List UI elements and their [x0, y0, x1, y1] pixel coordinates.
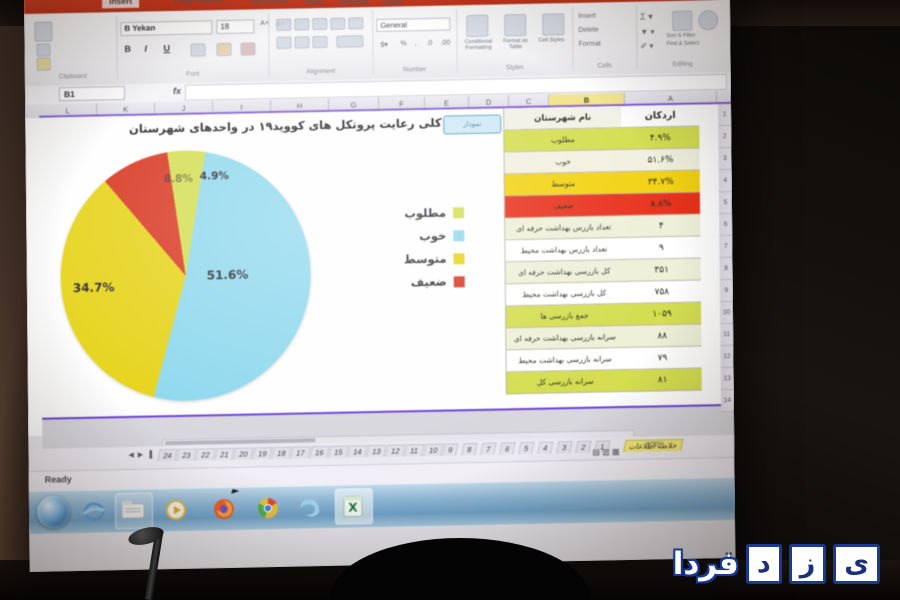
legend-item-motevaset[interactable]: متوسط — [344, 251, 464, 267]
legend-item-matloob[interactable]: مطلوب — [344, 205, 464, 221]
comma-style-icon[interactable]: , — [414, 40, 416, 47]
sheet-tab-14[interactable]: 14 — [347, 445, 368, 457]
watermark-word-farda: فردا — [673, 546, 739, 582]
ribbon-group-styles: Conditional Formatting Format as Table C… — [456, 7, 574, 73]
tab-insert[interactable]: Insert — [102, 0, 139, 8]
ribbon-group-label-cells: Cells — [573, 62, 637, 70]
format-cells-button[interactable]: Format — [578, 40, 600, 47]
chart-legend: مطلوب خوب متوسط ضعیف — [344, 205, 465, 299]
watermark-letter-dal: د — [746, 544, 782, 584]
sheet-tab-13[interactable]: 13 — [366, 445, 387, 457]
merge-and-center-icon[interactable] — [336, 35, 363, 48]
find-and-select-icon[interactable] — [698, 10, 718, 30]
chart-title: وضعیت کلی رعایت پروتکل های کووید۱۹ در وا… — [87, 115, 487, 137]
ribbon-group-label-number: Number — [373, 65, 457, 74]
align-middle-icon[interactable] — [294, 18, 309, 30]
table-cell-value[interactable]: ۳۴.۷% — [622, 170, 700, 193]
pie-chart-object[interactable]: وضعیت کلی رعایت پروتکل های کووید۱۹ در وا… — [43, 109, 498, 418]
table-cell-value[interactable]: ۸۸ — [623, 324, 701, 347]
cut-scissors-icon[interactable] — [36, 43, 50, 56]
align-center-icon[interactable] — [294, 36, 309, 48]
table-cell-label[interactable]: سرانه بازرسی بهداشت محیط — [505, 348, 623, 371]
table-cell-value[interactable]: ۸.۸% — [622, 192, 700, 215]
align-left-icon[interactable] — [276, 37, 291, 49]
sheet-tab-9[interactable]: 9 — [442, 443, 459, 455]
cell-styles-label: Cell Styles — [534, 37, 568, 44]
fill-color-icon[interactable] — [216, 43, 231, 56]
sheet-tab-7[interactable]: 7 — [480, 443, 497, 455]
row-header-10[interactable]: 10 — [720, 302, 733, 324]
table-cell-label[interactable]: خوب — [504, 150, 622, 173]
format-as-table-icon[interactable] — [504, 14, 526, 36]
table-cell-label[interactable]: سرانه بازرسی کل — [506, 370, 624, 393]
legend-item-zaeef[interactable]: ضعیف — [345, 274, 465, 290]
row-header-2[interactable]: 2 — [718, 126, 731, 148]
tab-review[interactable]: Review — [339, 0, 368, 7]
sheet-tab-18[interactable]: 18 — [271, 447, 292, 459]
sheet-tab-10[interactable]: 10 — [423, 444, 444, 456]
font-color-icon[interactable] — [240, 42, 255, 55]
conditional-formatting-label: Conditional Formatting — [458, 38, 498, 51]
ribbon-group-label-font: Font — [117, 69, 269, 79]
sheet-tab-12[interactable]: 12 — [385, 444, 406, 456]
row-header-9[interactable]: 9 — [720, 280, 733, 302]
sheet-tab-15[interactable]: 15 — [328, 446, 349, 458]
tab-data[interactable]: Data — [304, 0, 323, 6]
row-header-14[interactable]: 14 — [721, 390, 734, 412]
find-and-select-label: Find & Select — [666, 40, 699, 47]
firefox-icon[interactable] — [211, 496, 237, 523]
align-top-icon[interactable] — [276, 19, 291, 31]
photo-of-projected-screen: Microsoft Excel Insert Page Layout Formu… — [0, 0, 900, 600]
format-painter-icon[interactable] — [37, 57, 51, 70]
insert-cells-button[interactable]: Insert — [578, 13, 596, 20]
table-cell-value[interactable]: ۸۱ — [624, 368, 702, 391]
sheet-tab-23[interactable]: 23 — [176, 449, 197, 461]
conditional-formatting-icon[interactable] — [466, 15, 488, 37]
row-header-3[interactable]: 3 — [718, 148, 731, 170]
pie-label-zaeef: 8.8% — [164, 173, 193, 186]
legend-swatch-zaeef — [454, 276, 465, 287]
channel-watermark: ی ز د فردا — [673, 544, 880, 584]
table-cell-label[interactable]: تعداد بازرس بهداشت محیط — [504, 238, 622, 261]
sheet-tab-21[interactable]: 21 — [214, 448, 235, 460]
table-cell-value[interactable]: ۹ — [622, 236, 700, 259]
edge-icon[interactable] — [297, 494, 323, 521]
row-header-7[interactable]: 7 — [719, 236, 732, 258]
worksheet-canvas[interactable]: وضعیت کلی رعایت پروتکل های کووید۱۹ در وا… — [25, 104, 734, 436]
table-cell-value[interactable]: ۴ — [622, 214, 700, 237]
table-cell-value[interactable]: ۷۵۸ — [623, 280, 701, 303]
pie-slices[interactable] — [60, 148, 312, 403]
watermark-letter-ye: ی — [833, 544, 880, 584]
pie-label-matloob: 4.9% — [200, 170, 229, 183]
start-button-icon[interactable] — [37, 495, 70, 529]
bold-button[interactable]: B — [124, 44, 131, 54]
table-cell-value[interactable]: ۱۰۵۹ — [623, 302, 701, 325]
ribbon-group-label-styles: Styles — [457, 63, 573, 72]
align-right-icon[interactable] — [312, 36, 327, 48]
table-cell-label[interactable]: کل بازرسی بهداشت حرفه ای — [505, 260, 623, 283]
sort-and-filter-icon[interactable] — [672, 11, 692, 31]
format-as-table-label: Format as Table — [498, 38, 532, 51]
number-format-select[interactable]: General — [376, 17, 450, 31]
underline-button[interactable]: U — [163, 43, 170, 53]
legend-item-khoob[interactable]: خوب — [344, 228, 464, 244]
ribbon-group-label-alignment: Alignment — [269, 67, 373, 76]
table-cell-value[interactable]: ۵۱.۶% — [621, 148, 699, 171]
sheet-tab-5[interactable]: 5 — [518, 442, 535, 454]
table-cell-label[interactable]: جمع بازرسی ها — [505, 304, 623, 327]
ribbon-group-label-editing: Editing — [637, 60, 729, 69]
sheet-tab-19[interactable]: 19 — [252, 447, 273, 459]
svg-text:X: X — [348, 500, 358, 514]
ribbon-group-clipboard: Clipboard — [28, 16, 118, 82]
table-cell-label[interactable]: سرانه بازرسی بهداشت حرفه ای — [505, 326, 623, 349]
row-header-13[interactable]: 13 — [721, 368, 734, 390]
sheet-nav-buttons[interactable]: ◀ ▶ ▐ — [128, 451, 153, 459]
tab-page-layout[interactable]: Page Layout — [174, 0, 225, 5]
sheet-tab-8[interactable]: 8 — [461, 443, 478, 455]
autosum-icon[interactable]: Σ ▾ — [640, 11, 653, 22]
name-box[interactable]: B1 — [59, 86, 125, 101]
pie-wrap: 51.6% 34.7% 8.8% 4.9% — [60, 148, 316, 403]
orientation-icon[interactable] — [330, 18, 345, 30]
view-mode-buttons[interactable]: ▤ ▥ ▦ — [592, 441, 626, 452]
fill-icon[interactable]: ▼ ▾ — [640, 27, 654, 36]
sheet-tab-4[interactable]: 4 — [537, 441, 554, 453]
row-header-12[interactable]: 12 — [720, 346, 733, 368]
row-header-1[interactable]: 1 — [718, 104, 731, 126]
delete-cells-button[interactable]: Delete — [578, 26, 598, 33]
status-text: Ready — [45, 474, 72, 485]
excel-window: Microsoft Excel Insert Page Layout Formu… — [24, 0, 735, 572]
zoom-level-label[interactable]: 100% — [646, 441, 664, 448]
row-header-5[interactable]: 5 — [719, 192, 732, 214]
legend-label-motevaset: متوسط — [404, 252, 447, 267]
table-cell-label[interactable]: تعداد بازرس بهداشت حرفه ای — [504, 216, 622, 239]
row-header-6[interactable]: 6 — [719, 214, 732, 236]
sort-and-filter-label: Sort & Filter — [666, 33, 695, 40]
excel-icon[interactable]: X — [341, 494, 367, 521]
ribbon-group-alignment: Alignment — [268, 11, 374, 77]
legend-label-khoob: خوب — [419, 229, 446, 244]
table-cell-value[interactable]: اردکان — [621, 104, 699, 127]
chart-filter-button[interactable]: نمودار — [443, 114, 501, 134]
table-cell-value[interactable]: ۴.۹% — [621, 126, 699, 149]
folder-icon[interactable] — [121, 500, 147, 527]
sheet-tab-24[interactable]: 24 — [157, 449, 178, 461]
borders-icon[interactable] — [190, 43, 205, 56]
table-cell-label[interactable]: ضعیف — [504, 194, 622, 217]
pie-label-motevaset: 34.7% — [73, 280, 115, 295]
sheet-tab-17[interactable]: 17 — [290, 446, 311, 458]
sheet-tab-6[interactable]: 6 — [499, 442, 516, 454]
row-header-8[interactable]: 8 — [720, 258, 733, 280]
currency-icon[interactable]: $▾ — [380, 41, 387, 49]
sheet-tab-20[interactable]: 20 — [233, 447, 254, 459]
percent-icon[interactable]: % — [400, 40, 406, 47]
align-bottom-icon[interactable] — [312, 18, 327, 30]
ribbon-group-editing: Σ ▾ ▼ ▾ ✐ ▾ Sort & Filter Find & Select … — [636, 4, 729, 70]
row-header-4[interactable]: 4 — [719, 170, 732, 192]
sheet-tab-11[interactable]: 11 — [404, 444, 424, 456]
sheet-tab-16[interactable]: 16 — [309, 446, 330, 458]
sheet-tab-2[interactable]: 2 — [575, 441, 592, 453]
increase-decimal-icon[interactable]: .0 — [426, 40, 432, 47]
insert-function-icon[interactable]: fx — [173, 86, 181, 96]
legend-label-zaeef: ضعیف — [411, 275, 447, 290]
internet-explorer-icon[interactable] — [81, 498, 107, 525]
wrap-text-icon[interactable] — [348, 17, 363, 29]
sheet-tab-3[interactable]: 3 — [556, 441, 573, 453]
table-cell-value[interactable]: ۳۵۱ — [623, 258, 701, 281]
clear-icon[interactable]: ✐ ▾ — [640, 41, 653, 50]
ribbon-group-label-clipboard: Clipboard — [29, 72, 117, 81]
watermark-letter-ze: ز — [789, 544, 827, 584]
font-name-input[interactable]: B Yekan — [120, 20, 212, 36]
italic-button[interactable]: I — [144, 44, 147, 54]
ribbon-group-cells: Insert Delete Format Cells — [572, 6, 638, 71]
legend-label-matloob: مطلوب — [404, 206, 446, 221]
table-cell-value[interactable]: ۷۹ — [623, 346, 701, 369]
cell-styles-icon[interactable] — [542, 13, 564, 35]
summary-table[interactable]: اردکاننام شهرستان۴.۹%مطلوب۵۱.۶%خوب۳۴.۷%م… — [503, 104, 702, 394]
table-cell-label[interactable]: مطلوب — [503, 128, 621, 151]
font-size-input[interactable]: 18 — [216, 19, 254, 34]
sheet-tab-22[interactable]: 22 — [195, 448, 216, 460]
media-player-icon[interactable] — [163, 497, 189, 524]
table-cell-label[interactable]: متوسط — [504, 172, 622, 195]
tab-formulas[interactable]: Formulas — [250, 0, 288, 5]
legend-swatch-motevaset — [453, 253, 464, 264]
table-cell-label[interactable]: نام شهرستان — [503, 106, 621, 129]
table-cell-label[interactable]: کل بازرسی بهداشت محیط — [505, 282, 623, 305]
pie-label-khoob: 51.6% — [207, 268, 249, 283]
legend-swatch-khoob — [453, 230, 464, 241]
table-row[interactable]: ۸۱سرانه بازرسی کل — [506, 368, 702, 394]
paste-icon[interactable] — [34, 21, 52, 41]
decrease-decimal-icon[interactable]: .00 — [440, 39, 450, 46]
chrome-icon[interactable] — [255, 495, 281, 522]
legend-swatch-matloob — [453, 207, 464, 218]
row-header-11[interactable]: 11 — [720, 324, 733, 346]
